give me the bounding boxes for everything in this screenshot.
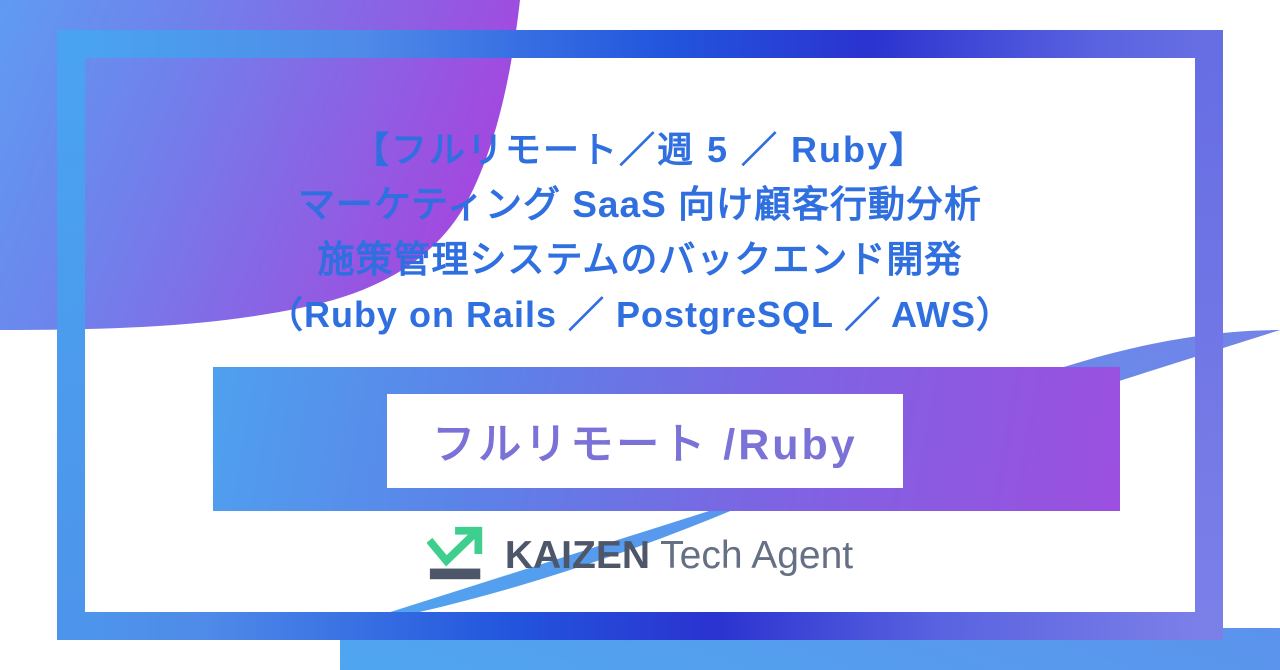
title-line-1: 【フルリモート／週 5 ／ Ruby】 [0,122,1280,177]
growth-arrow-icon [427,524,489,586]
highlight-banner: フルリモート /Ruby [213,367,1120,511]
brand-wordmark: KAIZEN Tech Agent [505,536,853,575]
title-line-3: 施策管理システムのバックエンド開発 [0,232,1280,287]
page-title: 【フルリモート／週 5 ／ Ruby】 マーケティング SaaS 向け顧客行動分… [0,122,1280,342]
title-line-4: （Ruby on Rails ／ PostgreSQL ／ AWS） [0,287,1280,342]
badge-label: フルリモート /Ruby [432,410,857,472]
title-line-2: マーケティング SaaS 向け顧客行動分析 [0,177,1280,232]
brand-logo: KAIZEN Tech Agent [0,524,1280,586]
banner-canvas: 【フルリモート／週 5 ／ Ruby】 マーケティング SaaS 向け顧客行動分… [0,0,1280,670]
badge-box: フルリモート /Ruby [387,394,903,488]
brand-name-bold: KAIZEN [505,534,650,577]
brand-name-light: Tech Agent [650,534,853,577]
